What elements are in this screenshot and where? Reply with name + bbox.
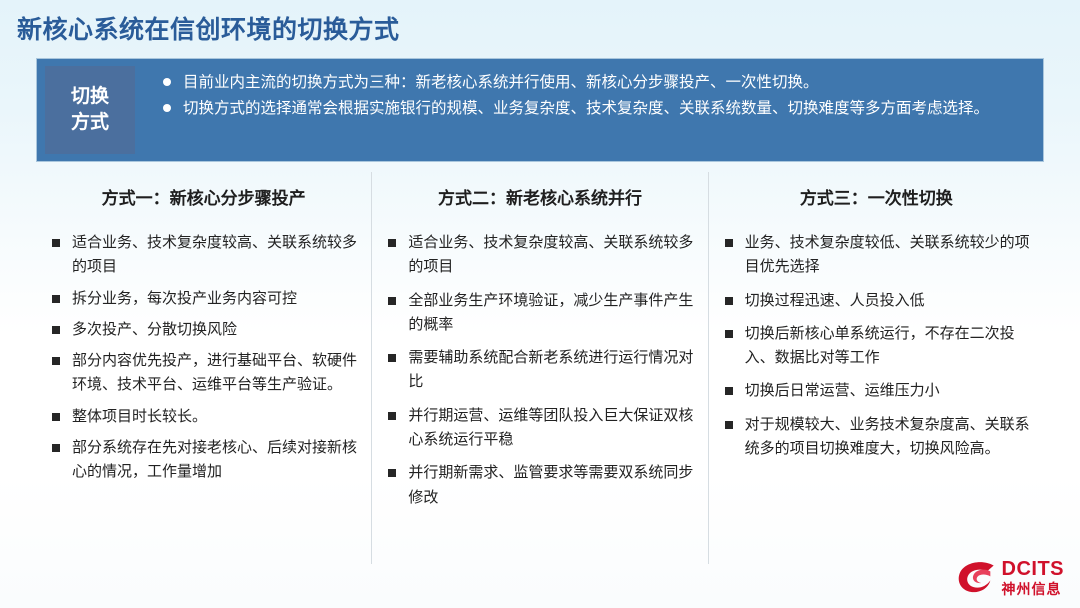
list-item: 对于规模较大、业务技术复杂度高、关联系统多的项目切换难度大，切换风险高。 [723, 413, 1030, 462]
bullet-list: 业务、技术复杂度较低、关联系统较少的项目优先选择 切换过程迅速、人员投入低 切换… [723, 231, 1030, 461]
bullet-square-icon [725, 239, 733, 247]
list-item: 需要辅助系统配合新老系统进行运行情况对比 [386, 346, 693, 395]
banner-bullet-text: 目前业内主流的切换方式为三种：新老核心系统并行使用、新核心分步骤投产、一次性切换… [183, 74, 819, 91]
list-item: 全部业务生产环境验证，减少生产事件产生的概率 [386, 289, 693, 338]
list-item-text: 并行期运营、运维等团队投入巨大保证双核心系统运行平稳 [408, 407, 693, 448]
list-item: 拆分业务，每次投产业务内容可控 [50, 287, 357, 311]
banner-bullet-item: 切换方式的选择通常会根据实施银行的规模、业务复杂度、技术复杂度、关联系统数量、切… [163, 97, 1029, 121]
list-item: 切换后新核心单系统运行，不存在二次投入、数据比对等工作 [723, 322, 1030, 371]
bullet-square-icon [52, 295, 60, 303]
list-item-text: 切换后新核心单系统运行，不存在二次投入、数据比对等工作 [745, 325, 1015, 366]
list-item-text: 部分系统存在先对接老核心、后续对接新核心的情况，工作量增加 [72, 439, 357, 480]
bullet-square-icon [52, 444, 60, 452]
list-item: 部分系统存在先对接老核心、后续对接新核心的情况，工作量增加 [50, 436, 357, 485]
logo-text: DCITS 神州信息 [1002, 559, 1065, 596]
list-item-text: 对于规模较大、业务技术复杂度高、关联系统多的项目切换难度大，切换风险高。 [745, 416, 1030, 457]
list-item-text: 拆分业务，每次投产业务内容可控 [72, 290, 297, 307]
list-item: 切换过程迅速、人员投入低 [723, 289, 1030, 313]
list-item: 整体项目时长较长。 [50, 405, 357, 429]
list-item: 部分内容优先投产，进行基础平台、软硬件环境、技术平台、运维平台等生产验证。 [50, 349, 357, 398]
list-item-text: 整体项目时长较长。 [72, 408, 207, 425]
bullet-square-icon [388, 239, 396, 247]
column-title: 方式三：一次性切换 [723, 184, 1030, 209]
banner-body: 目前业内主流的切换方式为三种：新老核心系统并行使用、新核心分步骤投产、一次性切换… [135, 59, 1043, 161]
banner-bullet-text: 切换方式的选择通常会根据实施银行的规模、业务复杂度、技术复杂度、关联系统数量、切… [183, 100, 989, 117]
column-method-three: 方式三：一次性切换 业务、技术复杂度较低、关联系统较少的项目优先选择 切换过程迅… [708, 172, 1044, 564]
list-item: 并行期运营、运维等团队投入巨大保证双核心系统运行平稳 [386, 404, 693, 453]
list-item-text: 适合业务、技术复杂度较高、关联系统较多的项目 [408, 234, 693, 275]
banner-label-box: 切换 方式 [45, 66, 135, 154]
bullet-square-icon [725, 387, 733, 395]
list-item-text: 切换过程迅速、人员投入低 [745, 292, 925, 309]
list-item: 适合业务、技术复杂度较高、关联系统较多的项目 [386, 231, 693, 280]
column-title: 方式一：新核心分步骤投产 [50, 184, 357, 209]
bullet-square-icon [52, 413, 60, 421]
bullet-square-icon [52, 357, 60, 365]
bullet-square-icon [388, 297, 396, 305]
summary-banner: 切换 方式 目前业内主流的切换方式为三种：新老核心系统并行使用、新核心分步骤投产… [36, 58, 1044, 162]
list-item-text: 部分内容优先投产，进行基础平台、软硬件环境、技术平台、运维平台等生产验证。 [72, 352, 357, 393]
list-item: 适合业务、技术复杂度较高、关联系统较多的项目 [50, 231, 357, 280]
column-title: 方式二：新老核心系统并行 [386, 184, 693, 209]
list-item: 并行期新需求、监管要求等需要双系统同步修改 [386, 461, 693, 510]
bullet-list: 适合业务、技术复杂度较高、关联系统较多的项目 拆分业务，每次投产业务内容可控 多… [50, 231, 357, 485]
list-item: 多次投产、分散切换风险 [50, 318, 357, 342]
logo-name-cn: 神州信息 [1002, 582, 1065, 596]
list-item-text: 需要辅助系统配合新老系统进行运行情况对比 [408, 349, 693, 390]
list-item-text: 并行期新需求、监管要求等需要双系统同步修改 [408, 464, 693, 505]
column-method-two: 方式二：新老核心系统并行 适合业务、技术复杂度较高、关联系统较多的项目 全部业务… [371, 172, 707, 564]
slide-canvas: 新核心系统在信创环境的切换方式 切换 方式 目前业内主流的切换方式为三种：新老核… [0, 0, 1080, 608]
column-method-one: 方式一：新核心分步骤投产 适合业务、技术复杂度较高、关联系统较多的项目 拆分业务… [36, 172, 371, 564]
list-item-text: 全部业务生产环境验证，减少生产事件产生的概率 [408, 292, 693, 333]
list-item-text: 多次投产、分散切换风险 [72, 321, 237, 338]
bullet-square-icon [725, 330, 733, 338]
banner-bullet-item: 目前业内主流的切换方式为三种：新老核心系统并行使用、新核心分步骤投产、一次性切换… [163, 71, 1029, 95]
page-title: 新核心系统在信创环境的切换方式 [17, 10, 400, 46]
bullet-square-icon [388, 412, 396, 420]
bullet-square-icon [725, 297, 733, 305]
list-item-text: 业务、技术复杂度较低、关联系统较少的项目优先选择 [745, 234, 1030, 275]
list-item-text: 适合业务、技术复杂度较高、关联系统较多的项目 [72, 234, 357, 275]
comparison-columns: 方式一：新核心分步骤投产 适合业务、技术复杂度较高、关联系统较多的项目 拆分业务… [36, 172, 1044, 564]
bullet-dot-icon [163, 78, 171, 86]
dcits-swirl-icon [957, 560, 997, 596]
bullet-square-icon [388, 469, 396, 477]
list-item: 业务、技术复杂度较低、关联系统较少的项目优先选择 [723, 231, 1030, 280]
bullet-list: 适合业务、技术复杂度较高、关联系统较多的项目 全部业务生产环境验证，减少生产事件… [386, 231, 693, 510]
bullet-square-icon [725, 421, 733, 429]
logo-name-en: DCITS [1002, 559, 1065, 579]
bullet-dot-icon [163, 104, 171, 112]
banner-label-line-2: 方式 [71, 110, 109, 136]
bullet-square-icon [388, 354, 396, 362]
list-item-text: 切换后日常运营、运维压力小 [745, 382, 940, 399]
company-logo: DCITS 神州信息 [957, 559, 1065, 596]
banner-label-line-1: 切换 [71, 84, 109, 110]
bullet-square-icon [52, 239, 60, 247]
list-item: 切换后日常运营、运维压力小 [723, 379, 1030, 403]
bullet-square-icon [52, 326, 60, 334]
